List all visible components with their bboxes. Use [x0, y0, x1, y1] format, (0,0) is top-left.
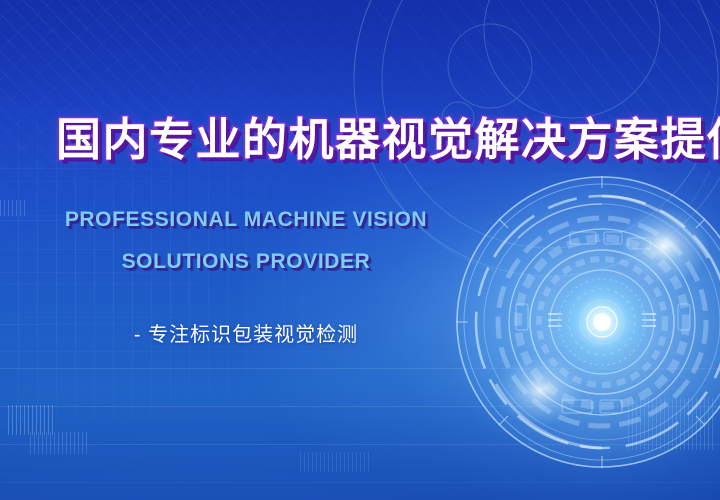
tick-marks-left-lower	[8, 405, 54, 435]
hud-circle-graphic	[452, 172, 720, 472]
banner-tagline: - 专注标识包装视觉检测	[56, 318, 436, 347]
hero-banner: 国内专业的机器视觉解决方案提供商 PROFESSIONAL MACHINE VI…	[0, 0, 720, 500]
tick-marks-left-upper	[0, 200, 26, 216]
tick-marks-bottom-left	[30, 432, 90, 454]
tick-marks-bottom-center	[300, 452, 370, 472]
banner-title: 国内专业的机器视觉解决方案提供商	[56, 112, 656, 168]
banner-subtitle-line-2: SOLUTIONS PROVIDER	[56, 250, 436, 274]
banner-subtitle-line-1: PROFESSIONAL MACHINE VISION	[56, 208, 436, 232]
